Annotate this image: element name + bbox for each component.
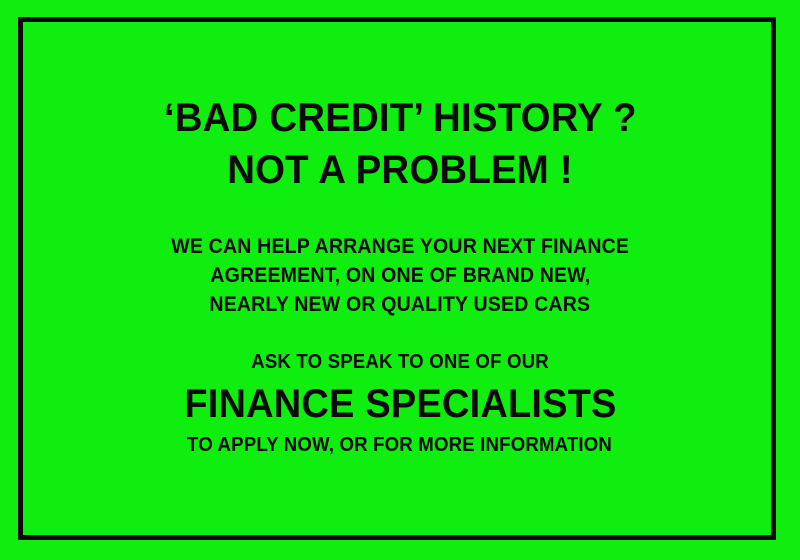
- cta-main-heading: FINANCE SPECIALISTS: [184, 377, 616, 431]
- call-to-action-block: ASK TO SPEAK TO ONE OF OUR FINANCE SPECI…: [171, 347, 628, 459]
- headline-line-2: NOT A PROBLEM !: [227, 144, 573, 196]
- poster-content: ‘BAD CREDIT’ HISTORY ? NOT A PROBLEM ! W…: [0, 0, 800, 560]
- headline-block: ‘BAD CREDIT’ HISTORY ? NOT A PROBLEM !: [154, 92, 647, 196]
- body-line-1: WE CAN HELP ARRANGE YOUR NEXT FINANCE: [171, 232, 629, 261]
- advertisement-poster: ‘BAD CREDIT’ HISTORY ? NOT A PROBLEM ! W…: [0, 0, 800, 560]
- body-line-2: AGREEMENT, ON ONE OF BRAND NEW,: [210, 261, 590, 290]
- headline-line-1: ‘BAD CREDIT’ HISTORY ?: [164, 92, 637, 144]
- cta-tail-text: TO APPLY NOW, OR FOR MORE INFORMATION: [187, 431, 612, 459]
- body-text-block: WE CAN HELP ARRANGE YOUR NEXT FINANCE AG…: [154, 232, 646, 319]
- body-line-3: NEARLY NEW OR QUALITY USED CARS: [210, 290, 591, 319]
- cta-lead-text: ASK TO SPEAK TO ONE OF OUR: [251, 347, 549, 377]
